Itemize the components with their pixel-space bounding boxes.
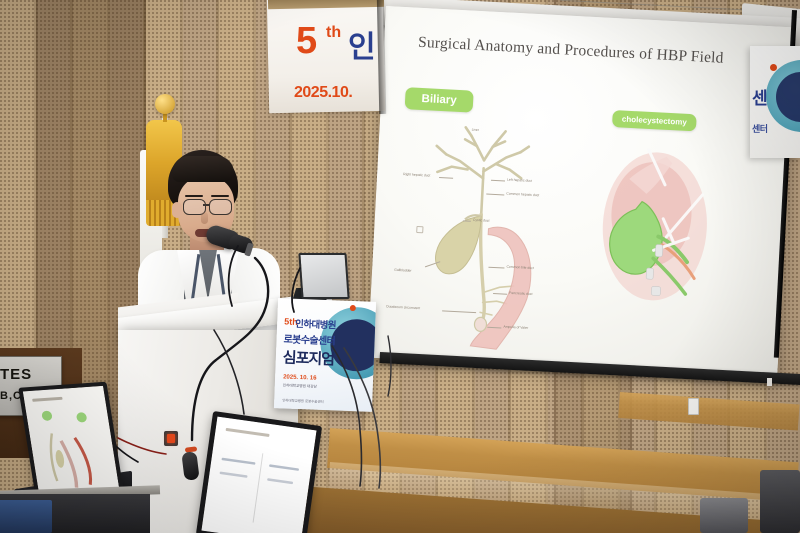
wall-marker <box>767 378 772 386</box>
podium-event-sign: 5th 인하대병원 로봇수술센터 심포지엄 2025. 10. 16 인하대학교… <box>274 298 376 412</box>
sign-date: 2025. 10. 16 <box>283 374 317 381</box>
cholecystectomy-illustration <box>588 137 727 324</box>
right-floor-object-2 <box>700 498 748 533</box>
banner-ordinal-suffix: th <box>326 24 341 42</box>
anat-label-cystic-duct: Cystic duct <box>473 218 490 223</box>
anat-label-liver: Liver <box>472 128 480 132</box>
right-event-banner: 센 센터 <box>750 46 800 158</box>
banner-date: 2025.10. <box>294 84 352 102</box>
anat-label-gallbladder: Gallbladder <box>394 268 412 273</box>
podium-power-led <box>167 434 175 443</box>
hair-fringe <box>172 156 234 182</box>
cholecystectomy-svg <box>588 137 727 324</box>
biliary-anatomy-svg <box>378 111 605 357</box>
wall-sign-line-1: TES <box>0 366 50 383</box>
presentation-slide: Surgical Anatomy and Procedures of HBP F… <box>368 6 796 379</box>
eyeglasses-bridge <box>203 204 210 206</box>
banner-ordinal-number: 5 <box>296 22 317 60</box>
right-banner-korean: 센 <box>752 84 767 109</box>
sign-center-name: 로봇수술센터 <box>283 330 335 347</box>
right-floor-object <box>760 470 800 533</box>
confidence-monitor[interactable] <box>298 253 349 299</box>
wall-power-outlet <box>688 398 699 415</box>
slide-page-marker <box>416 226 423 233</box>
projection-screen: Surgical Anatomy and Procedures of HBP F… <box>368 6 796 379</box>
presentation-photo-scene: Surgical Anatomy and Procedures of HBP F… <box>0 0 800 533</box>
sign-logo-text: 인하대학교병원 로봇수술센터 <box>282 397 324 404</box>
laptop-2-slide-thumbnail <box>201 417 316 533</box>
blue-case <box>0 500 52 533</box>
laptop-2-screen[interactable] <box>196 411 322 533</box>
slide-title: Surgical Anatomy and Procedures of HBP F… <box>418 34 758 70</box>
nose <box>201 212 208 224</box>
flag-finial-ball-icon <box>155 94 175 114</box>
sign-hospital-name: 인하대병원 <box>295 316 336 332</box>
badge-biliary: Biliary <box>405 87 474 113</box>
sign-event-name: 심포지엄 <box>282 346 334 369</box>
eyeglasses-lens-right <box>209 199 232 215</box>
banner-korean-text: 인 <box>348 22 375 66</box>
sign-subtitle: 인하대학교병원 대강당 <box>283 383 317 389</box>
badge-cholecystectomy: cholecystectomy <box>612 110 697 131</box>
ear <box>172 202 182 218</box>
floor-board <box>618 392 799 430</box>
right-banner-korean-sub: 센터 <box>752 122 768 135</box>
biliary-anatomy-illustration: Liver Right hepatic duct Left hepatic du… <box>378 111 605 357</box>
banner-accent-dot <box>770 64 777 71</box>
